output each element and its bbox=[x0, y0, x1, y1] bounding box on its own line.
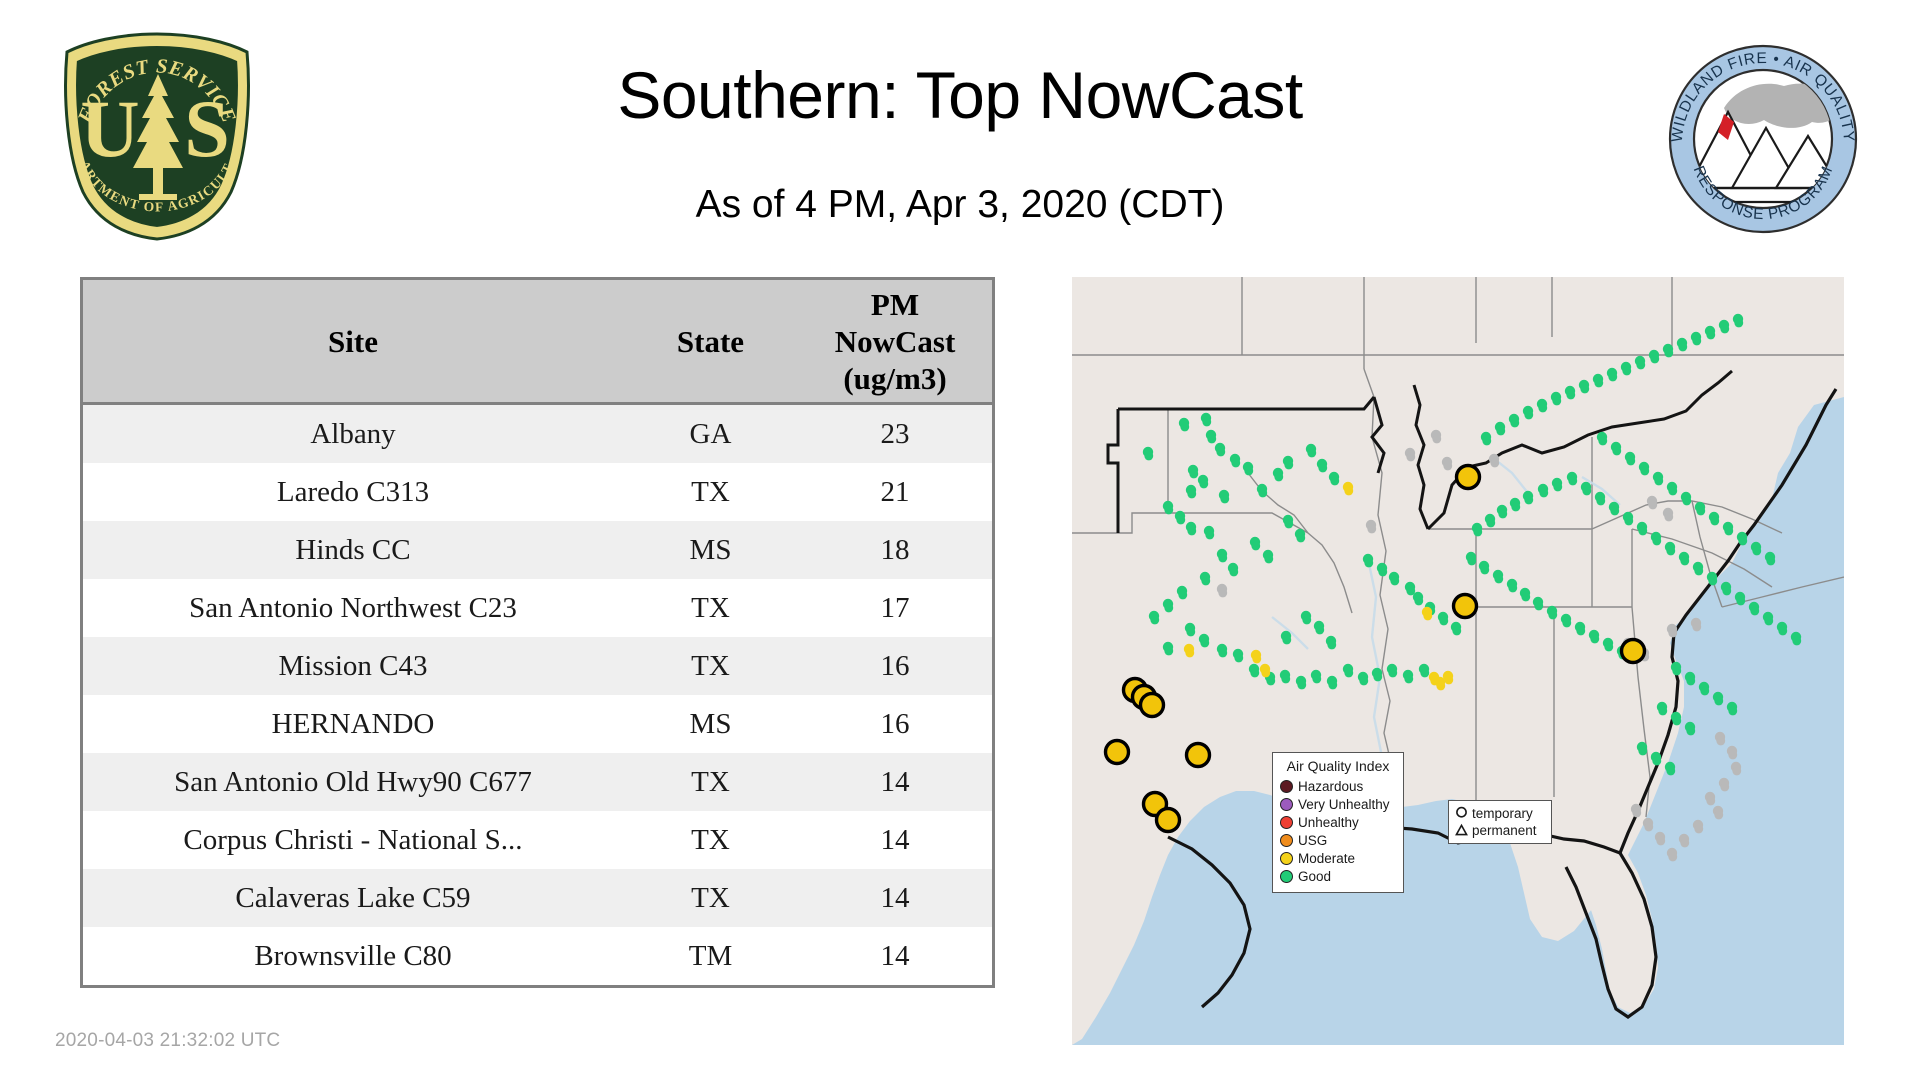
monitor-site-good[interactable] bbox=[1691, 332, 1701, 346]
monitor-site-good[interactable] bbox=[1579, 380, 1589, 394]
cell-pm-nowcast: 21 bbox=[798, 463, 992, 521]
monitor-site-good[interactable] bbox=[1567, 472, 1577, 486]
table-row[interactable]: HERNANDOMS16 bbox=[83, 695, 992, 753]
monitor-site-good[interactable] bbox=[1623, 512, 1633, 526]
monitor-site-highlighted[interactable]: Brownsville C80 bbox=[1157, 809, 1180, 832]
cell-state: TX bbox=[623, 579, 798, 637]
aqi-legend-row: Moderate bbox=[1280, 849, 1396, 867]
cell-site: Laredo C313 bbox=[83, 463, 623, 521]
monitor-site-good[interactable] bbox=[1317, 459, 1327, 473]
monitor-site-good[interactable] bbox=[1681, 492, 1691, 506]
monitor-site-good[interactable] bbox=[1372, 668, 1382, 682]
table-row[interactable]: Laredo C313TX21 bbox=[83, 463, 992, 521]
monitor-site-unknown[interactable] bbox=[1727, 746, 1737, 760]
monitor-site-good[interactable] bbox=[1737, 532, 1747, 546]
monitor-site-highlighted[interactable]: Laredo C313 bbox=[1106, 741, 1129, 764]
monitor-site-good[interactable] bbox=[1451, 622, 1461, 636]
monitor-site-good[interactable] bbox=[1283, 515, 1293, 529]
monitor-site-good[interactable] bbox=[1625, 452, 1635, 466]
aqi-legend-label: Hazardous bbox=[1298, 779, 1363, 794]
monitor-site-unknown[interactable] bbox=[1663, 508, 1673, 522]
monitor-site-good[interactable] bbox=[1250, 537, 1260, 551]
monitor-site-good[interactable] bbox=[1538, 484, 1548, 498]
monitor-site-good[interactable] bbox=[1163, 642, 1173, 656]
aqi-map[interactable]: Hinds CCHERNANDOAlbanySan Antonio Northw… bbox=[1072, 277, 1844, 1045]
table-header-row: Site State PM NowCast (ug/m3) bbox=[83, 280, 992, 404]
site-type-permanent: permanent bbox=[1454, 822, 1546, 839]
monitor-site-good[interactable] bbox=[1472, 523, 1482, 537]
monitor-site-good[interactable] bbox=[1217, 549, 1227, 563]
monitor-site-unknown[interactable] bbox=[1655, 832, 1665, 846]
monitor-site-good[interactable] bbox=[1537, 399, 1547, 413]
aqi-swatch-icon bbox=[1280, 834, 1293, 847]
cell-pm-nowcast: 14 bbox=[798, 753, 992, 811]
monitor-site-moderate[interactable] bbox=[1435, 677, 1445, 691]
cell-state: TX bbox=[623, 811, 798, 869]
monitor-site-unknown[interactable] bbox=[1679, 834, 1689, 848]
monitor-site-good[interactable] bbox=[1497, 505, 1507, 519]
monitor-site-good[interactable] bbox=[1495, 422, 1505, 436]
monitor-site-good[interactable] bbox=[1329, 472, 1339, 486]
monitor-site-good[interactable] bbox=[1493, 570, 1503, 584]
column-header-pm-line1: PM bbox=[871, 287, 919, 322]
monitor-site-good[interactable] bbox=[1201, 413, 1211, 427]
site-type-temporary-label: temporary bbox=[1472, 806, 1533, 821]
monitor-site-unknown[interactable] bbox=[1217, 584, 1227, 598]
monitor-site-good[interactable] bbox=[1507, 579, 1517, 593]
monitor-site-good[interactable] bbox=[1685, 722, 1695, 736]
monitor-site-good[interactable] bbox=[1679, 552, 1689, 566]
column-header-state[interactable]: State bbox=[623, 280, 798, 404]
column-header-state-label: State bbox=[677, 324, 744, 359]
monitor-site-good[interactable] bbox=[1143, 447, 1153, 461]
cell-state: GA bbox=[623, 404, 798, 464]
aqi-legend-title: Air Quality Index bbox=[1280, 758, 1396, 774]
monitor-site-unknown[interactable] bbox=[1693, 820, 1703, 834]
monitor-site-good[interactable] bbox=[1199, 634, 1209, 648]
table-row[interactable]: Corpus Christi - National S...TX14 bbox=[83, 811, 992, 869]
monitor-site-good[interactable] bbox=[1230, 454, 1240, 468]
monitor-site-unknown[interactable] bbox=[1643, 818, 1653, 832]
monitor-site-unknown[interactable] bbox=[1489, 454, 1499, 468]
monitor-site-good[interactable] bbox=[1637, 742, 1647, 756]
monitor-site-good[interactable] bbox=[1695, 502, 1705, 516]
monitor-site-moderate[interactable] bbox=[1422, 607, 1432, 621]
monitor-site-good[interactable] bbox=[1206, 430, 1216, 444]
monitor-site-good[interactable] bbox=[1609, 502, 1619, 516]
monitor-site-good[interactable] bbox=[1581, 482, 1591, 496]
monitor-site-unknown[interactable] bbox=[1719, 778, 1729, 792]
aqi-legend: Air Quality Index HazardousVery Unhealth… bbox=[1272, 752, 1404, 893]
monitor-site-good[interactable] bbox=[1217, 644, 1227, 658]
cell-state: MS bbox=[623, 521, 798, 579]
monitor-site-unknown[interactable] bbox=[1667, 624, 1677, 638]
monitor-site-good[interactable] bbox=[1735, 592, 1745, 606]
aqi-swatch-icon bbox=[1280, 816, 1293, 829]
monitor-site-good[interactable] bbox=[1649, 350, 1659, 364]
circle-icon bbox=[1454, 806, 1469, 821]
aqi-legend-label: USG bbox=[1298, 833, 1327, 848]
site-type-permanent-label: permanent bbox=[1472, 823, 1537, 838]
aqi-legend-label: Good bbox=[1298, 869, 1331, 884]
page-subtitle: As of 4 PM, Apr 3, 2020 (CDT) bbox=[0, 182, 1920, 228]
monitor-site-good[interactable] bbox=[1575, 622, 1585, 636]
aqi-legend-label: Unhealthy bbox=[1298, 815, 1359, 830]
monitor-site-highlighted[interactable]: Hinds CC bbox=[1457, 466, 1480, 489]
monitor-site-good[interactable] bbox=[1547, 606, 1557, 620]
monitor-site-highlighted[interactable]: Calaveras Lake C59 bbox=[1141, 694, 1164, 717]
monitor-site-good[interactable] bbox=[1611, 442, 1621, 456]
page-title: Southern: Top NowCast bbox=[0, 56, 1920, 134]
monitor-site-unknown[interactable] bbox=[1431, 430, 1441, 444]
monitor-site-good[interactable] bbox=[1301, 611, 1311, 625]
column-header-pm-line2: NowCast bbox=[835, 324, 956, 359]
cell-state: MS bbox=[623, 695, 798, 753]
monitor-site-good[interactable] bbox=[1765, 552, 1775, 566]
cell-state: TX bbox=[623, 463, 798, 521]
aqi-swatch-icon bbox=[1280, 798, 1293, 811]
monitor-site-good[interactable] bbox=[1565, 386, 1575, 400]
monitor-site-moderate[interactable] bbox=[1260, 664, 1270, 678]
map-monitor-markers: Hinds CCHERNANDOAlbanySan Antonio Northw… bbox=[1072, 277, 1844, 1045]
monitor-site-good[interactable] bbox=[1721, 582, 1731, 596]
cell-site: San Antonio Northwest C23 bbox=[83, 579, 623, 637]
aqi-legend-row: Good bbox=[1280, 867, 1396, 885]
monitor-site-moderate[interactable] bbox=[1251, 650, 1261, 664]
triangle-icon bbox=[1454, 823, 1469, 838]
monitor-site-good[interactable] bbox=[1533, 597, 1543, 611]
aqi-legend-row: Hazardous bbox=[1280, 777, 1396, 795]
column-header-pm-nowcast[interactable]: PM NowCast (ug/m3) bbox=[798, 280, 992, 404]
monitor-site-good[interactable] bbox=[1667, 482, 1677, 496]
cell-pm-nowcast: 14 bbox=[798, 811, 992, 869]
monitor-site-good[interactable] bbox=[1219, 490, 1229, 504]
monitor-site-good[interactable] bbox=[1597, 432, 1607, 446]
monitor-site-good[interactable] bbox=[1637, 522, 1647, 536]
column-header-site-label: Site bbox=[328, 324, 378, 359]
monitor-site-good[interactable] bbox=[1306, 444, 1316, 458]
monitor-site-good[interactable] bbox=[1657, 702, 1667, 716]
monitor-site-unknown[interactable] bbox=[1647, 496, 1657, 510]
monitor-site-good[interactable] bbox=[1281, 631, 1291, 645]
cell-pm-nowcast: 17 bbox=[798, 579, 992, 637]
monitor-site-good[interactable] bbox=[1777, 622, 1787, 636]
monitor-site-highlighted[interactable]: Corpus Christi - National S... bbox=[1187, 744, 1210, 767]
cell-site: Hinds CC bbox=[83, 521, 623, 579]
monitor-site-good[interactable] bbox=[1485, 514, 1495, 528]
monitor-site-good[interactable] bbox=[1403, 670, 1413, 684]
table-row[interactable]: Hinds CCMS18 bbox=[83, 521, 992, 579]
cell-pm-nowcast: 14 bbox=[798, 869, 992, 927]
monitor-site-good[interactable] bbox=[1327, 676, 1337, 690]
aqi-legend-label: Very Unhealthy bbox=[1298, 797, 1390, 812]
monitor-site-good[interactable] bbox=[1149, 611, 1159, 625]
monitor-site-good[interactable] bbox=[1314, 621, 1324, 635]
monitor-site-good[interactable] bbox=[1175, 511, 1185, 525]
monitor-site-good[interactable] bbox=[1791, 632, 1801, 646]
monitor-site-moderate[interactable] bbox=[1184, 644, 1194, 658]
monitor-site-good[interactable] bbox=[1185, 623, 1195, 637]
monitor-site-good[interactable] bbox=[1215, 443, 1225, 457]
table-row[interactable]: San Antonio Northwest C23TX17 bbox=[83, 579, 992, 637]
monitor-site-unknown[interactable] bbox=[1731, 762, 1741, 776]
monitor-site-good[interactable] bbox=[1509, 414, 1519, 428]
monitor-site-good[interactable] bbox=[1377, 563, 1387, 577]
monitor-site-good[interactable] bbox=[1651, 752, 1661, 766]
monitor-site-good[interactable] bbox=[1188, 465, 1198, 479]
monitor-site-good[interactable] bbox=[1665, 542, 1675, 556]
monitor-site-good[interactable] bbox=[1671, 662, 1681, 676]
monitor-site-good[interactable] bbox=[1723, 522, 1733, 536]
monitor-site-good[interactable] bbox=[1685, 672, 1695, 686]
cell-pm-nowcast: 16 bbox=[798, 637, 992, 695]
cell-state: TX bbox=[623, 637, 798, 695]
table-row[interactable]: Brownsville C80TM14 bbox=[83, 927, 992, 985]
monitor-site-good[interactable] bbox=[1621, 362, 1631, 376]
monitor-site-good[interactable] bbox=[1358, 672, 1368, 686]
cell-site: Albany bbox=[83, 404, 623, 464]
monitor-site-good[interactable] bbox=[1311, 670, 1321, 684]
monitor-site-good[interactable] bbox=[1677, 338, 1687, 352]
cell-site: Mission C43 bbox=[83, 637, 623, 695]
column-header-site[interactable]: Site bbox=[83, 280, 623, 404]
monitor-site-good[interactable] bbox=[1589, 630, 1599, 644]
monitor-site-good[interactable] bbox=[1179, 418, 1189, 432]
monitor-site-good[interactable] bbox=[1163, 599, 1173, 613]
table-row[interactable]: Calaveras Lake C59TX14 bbox=[83, 869, 992, 927]
monitor-site-good[interactable] bbox=[1419, 664, 1429, 678]
monitor-site-good[interactable] bbox=[1593, 374, 1603, 388]
monitor-site-unknown[interactable] bbox=[1705, 792, 1715, 806]
cell-site: Corpus Christi - National S... bbox=[83, 811, 623, 869]
monitor-site-good[interactable] bbox=[1699, 682, 1709, 696]
cell-pm-nowcast: 18 bbox=[798, 521, 992, 579]
monitor-site-good[interactable] bbox=[1481, 432, 1491, 446]
monitor-site-good[interactable] bbox=[1719, 320, 1729, 334]
monitor-site-good[interactable] bbox=[1751, 542, 1761, 556]
aqi-swatch-icon bbox=[1280, 870, 1293, 883]
aqi-legend-row: Unhealthy bbox=[1280, 813, 1396, 831]
aqi-legend-label: Moderate bbox=[1298, 851, 1355, 866]
monitor-site-good[interactable] bbox=[1523, 406, 1533, 420]
monitor-site-unknown[interactable] bbox=[1366, 520, 1376, 534]
aqi-swatch-icon bbox=[1280, 780, 1293, 793]
monitor-site-good[interactable] bbox=[1523, 491, 1533, 505]
monitor-site-good[interactable] bbox=[1651, 532, 1661, 546]
monitor-site-good[interactable] bbox=[1607, 368, 1617, 382]
monitor-site-good[interactable] bbox=[1595, 492, 1605, 506]
monitor-site-highlighted[interactable]: HERNANDO bbox=[1454, 595, 1477, 618]
monitor-site-good[interactable] bbox=[1665, 762, 1675, 776]
cell-site: San Antonio Old Hwy90 C677 bbox=[83, 753, 623, 811]
monitor-site-good[interactable] bbox=[1295, 529, 1305, 543]
monitor-site-unknown[interactable] bbox=[1713, 806, 1723, 820]
monitor-site-good[interactable] bbox=[1387, 664, 1397, 678]
monitor-site-good[interactable] bbox=[1552, 478, 1562, 492]
monitor-site-unknown[interactable] bbox=[1405, 448, 1415, 462]
cell-state: TX bbox=[623, 753, 798, 811]
monitor-site-good[interactable] bbox=[1561, 614, 1571, 628]
table-row[interactable]: San Antonio Old Hwy90 C677TX14 bbox=[83, 753, 992, 811]
monitor-site-good[interactable] bbox=[1200, 572, 1210, 586]
cell-pm-nowcast: 16 bbox=[798, 695, 992, 753]
monitor-site-unknown[interactable] bbox=[1631, 804, 1641, 818]
monitor-site-good[interactable] bbox=[1693, 562, 1703, 576]
monitor-site-good[interactable] bbox=[1296, 676, 1306, 690]
monitor-site-good[interactable] bbox=[1389, 572, 1399, 586]
monitor-site-good[interactable] bbox=[1707, 572, 1717, 586]
cell-site: HERNANDO bbox=[83, 695, 623, 753]
monitor-site-unknown[interactable] bbox=[1667, 848, 1677, 862]
monitor-site-good[interactable] bbox=[1466, 552, 1476, 566]
wfaqrp-logo: WILDLAND FIRE • AIR QUALITY RESPONSE PRO… bbox=[1660, 36, 1865, 241]
aqi-swatch-icon bbox=[1280, 852, 1293, 865]
column-header-pm-line3: (ug/m3) bbox=[843, 361, 946, 396]
monitor-site-good[interactable] bbox=[1177, 586, 1187, 600]
monitor-site-good[interactable] bbox=[1243, 462, 1253, 476]
monitor-site-good[interactable] bbox=[1733, 314, 1743, 328]
monitor-site-good[interactable] bbox=[1343, 664, 1353, 678]
monitor-site-good[interactable] bbox=[1639, 462, 1649, 476]
cell-pm-nowcast: 14 bbox=[798, 927, 992, 985]
monitor-site-highlighted[interactable]: Albany bbox=[1622, 640, 1645, 663]
cell-state: TM bbox=[623, 927, 798, 985]
table-row[interactable]: AlbanyGA23 bbox=[83, 404, 992, 464]
monitor-site-unknown[interactable] bbox=[1691, 618, 1701, 632]
monitor-site-good[interactable] bbox=[1257, 484, 1267, 498]
monitor-site-moderate[interactable] bbox=[1343, 482, 1353, 496]
cell-site: Calaveras Lake C59 bbox=[83, 869, 623, 927]
monitor-site-good[interactable] bbox=[1273, 468, 1283, 482]
monitor-site-good[interactable] bbox=[1233, 649, 1243, 663]
cell-pm-nowcast: 23 bbox=[798, 404, 992, 464]
monitor-site-good[interactable] bbox=[1438, 612, 1448, 626]
monitor-site-good[interactable] bbox=[1709, 512, 1719, 526]
monitor-site-good[interactable] bbox=[1198, 475, 1208, 489]
monitor-site-good[interactable] bbox=[1280, 670, 1290, 684]
monitor-site-good[interactable] bbox=[1163, 501, 1173, 515]
monitor-site-good[interactable] bbox=[1749, 602, 1759, 616]
top-nowcast-table: Site State PM NowCast (ug/m3) AlbanyGA23… bbox=[80, 277, 995, 988]
monitor-site-good[interactable] bbox=[1263, 550, 1273, 564]
monitor-site-good[interactable] bbox=[1603, 638, 1613, 652]
monitor-site-good[interactable] bbox=[1713, 692, 1723, 706]
monitor-site-good[interactable] bbox=[1763, 612, 1773, 626]
monitor-site-good[interactable] bbox=[1479, 561, 1489, 575]
monitor-site-good[interactable] bbox=[1727, 702, 1737, 716]
monitor-site-good[interactable] bbox=[1363, 554, 1373, 568]
monitor-site-good[interactable] bbox=[1510, 498, 1520, 512]
cell-site: Brownsville C80 bbox=[83, 927, 623, 985]
monitor-site-good[interactable] bbox=[1204, 526, 1214, 540]
generated-timestamp: 2020-04-03 21:32:02 UTC bbox=[55, 1030, 280, 1052]
monitor-site-good[interactable] bbox=[1705, 326, 1715, 340]
monitor-site-good[interactable] bbox=[1663, 344, 1673, 358]
site-type-temporary: temporary bbox=[1454, 805, 1546, 822]
monitor-site-good[interactable] bbox=[1186, 485, 1196, 499]
monitor-site-good[interactable] bbox=[1413, 592, 1423, 606]
site-type-legend: temporary permanent bbox=[1448, 800, 1552, 844]
monitor-site-good[interactable] bbox=[1671, 712, 1681, 726]
monitor-site-unknown[interactable] bbox=[1715, 732, 1725, 746]
monitor-site-good[interactable] bbox=[1653, 472, 1663, 486]
cell-state: TX bbox=[623, 869, 798, 927]
monitor-site-good[interactable] bbox=[1635, 356, 1645, 370]
monitor-site-good[interactable] bbox=[1326, 636, 1336, 650]
monitor-site-good[interactable] bbox=[1228, 563, 1238, 577]
monitor-site-unknown[interactable] bbox=[1442, 457, 1452, 471]
table-row[interactable]: Mission C43TX16 bbox=[83, 637, 992, 695]
monitor-site-good[interactable] bbox=[1283, 456, 1293, 470]
monitor-site-good[interactable] bbox=[1249, 664, 1259, 678]
monitor-site-good[interactable] bbox=[1405, 582, 1415, 596]
monitor-site-good[interactable] bbox=[1551, 392, 1561, 406]
aqi-legend-row: USG bbox=[1280, 831, 1396, 849]
aqi-legend-row: Very Unhealthy bbox=[1280, 795, 1396, 813]
monitor-site-good[interactable] bbox=[1520, 588, 1530, 602]
monitor-site-good[interactable] bbox=[1186, 522, 1196, 536]
